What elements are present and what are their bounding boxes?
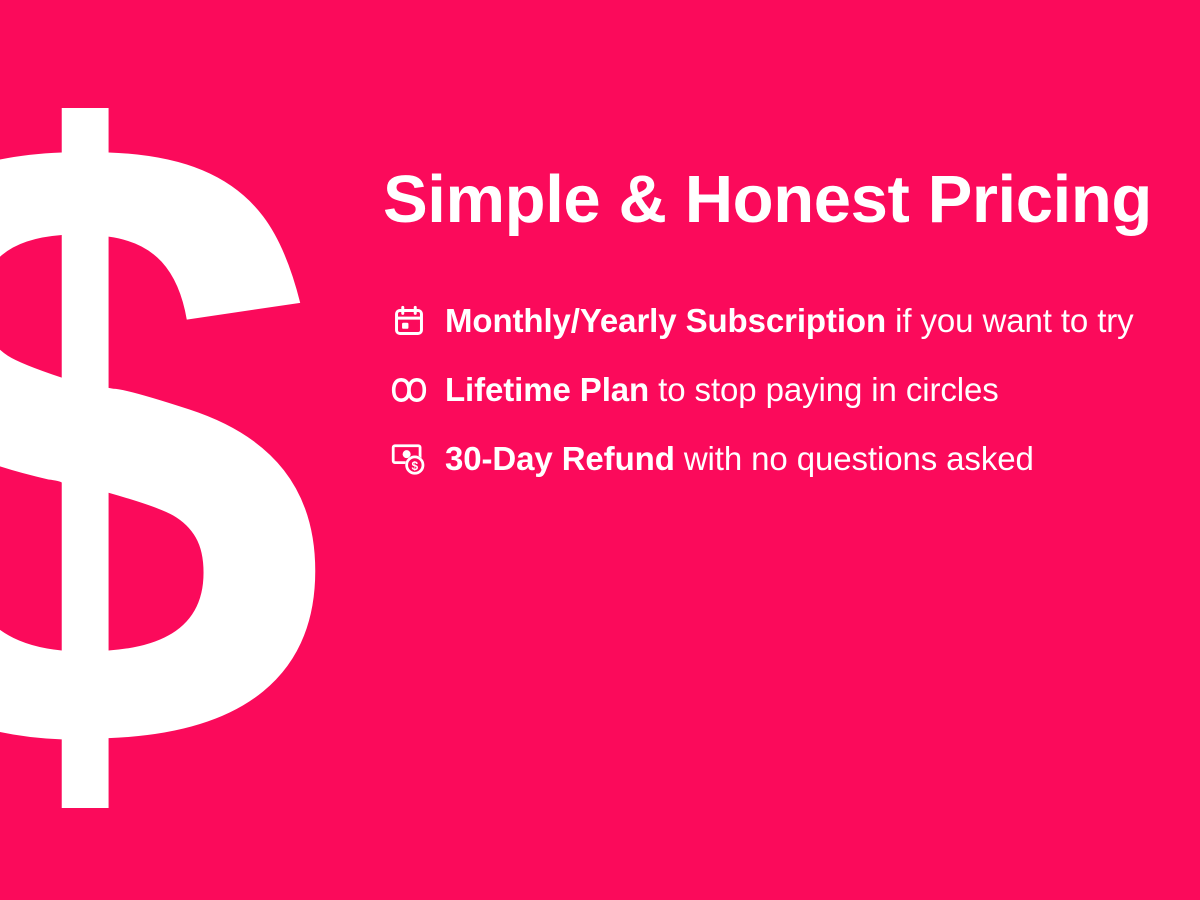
content-column: Simple & Honest Pricing Monthly/Yearly S… xyxy=(383,160,1183,240)
dollar-sign-graphic: $ xyxy=(0,108,318,808)
infinity-icon xyxy=(390,371,428,409)
calendar-icon xyxy=(390,302,428,340)
feature-list: Monthly/Yearly Subscription if you want … xyxy=(390,286,1190,493)
feature-lead: Lifetime Plan xyxy=(445,371,649,408)
money-back-icon: $ xyxy=(390,440,428,478)
svg-text:$: $ xyxy=(412,458,419,472)
feature-rest: to stop paying in circles xyxy=(649,371,999,408)
feature-rest: with no questions asked xyxy=(675,440,1034,477)
feature-label: 30-Day Refund with no questions asked xyxy=(445,440,1034,478)
feature-rest: if you want to try xyxy=(886,302,1134,339)
pricing-slide: $ Simple & Honest Pricing Monthly/Yearly… xyxy=(0,0,1200,900)
feature-row-lifetime: Lifetime Plan to stop paying in circles xyxy=(390,355,1190,424)
feature-lead: Monthly/Yearly Subscription xyxy=(445,302,886,339)
feature-label: Monthly/Yearly Subscription if you want … xyxy=(445,302,1134,340)
feature-row-refund: $ 30-Day Refund with no questions asked xyxy=(390,424,1190,493)
feature-label: Lifetime Plan to stop paying in circles xyxy=(445,371,999,409)
feature-lead: 30-Day Refund xyxy=(445,440,675,477)
feature-row-subscription: Monthly/Yearly Subscription if you want … xyxy=(390,286,1190,355)
svg-text:$: $ xyxy=(0,108,318,808)
page-title: Simple & Honest Pricing xyxy=(383,160,1183,240)
